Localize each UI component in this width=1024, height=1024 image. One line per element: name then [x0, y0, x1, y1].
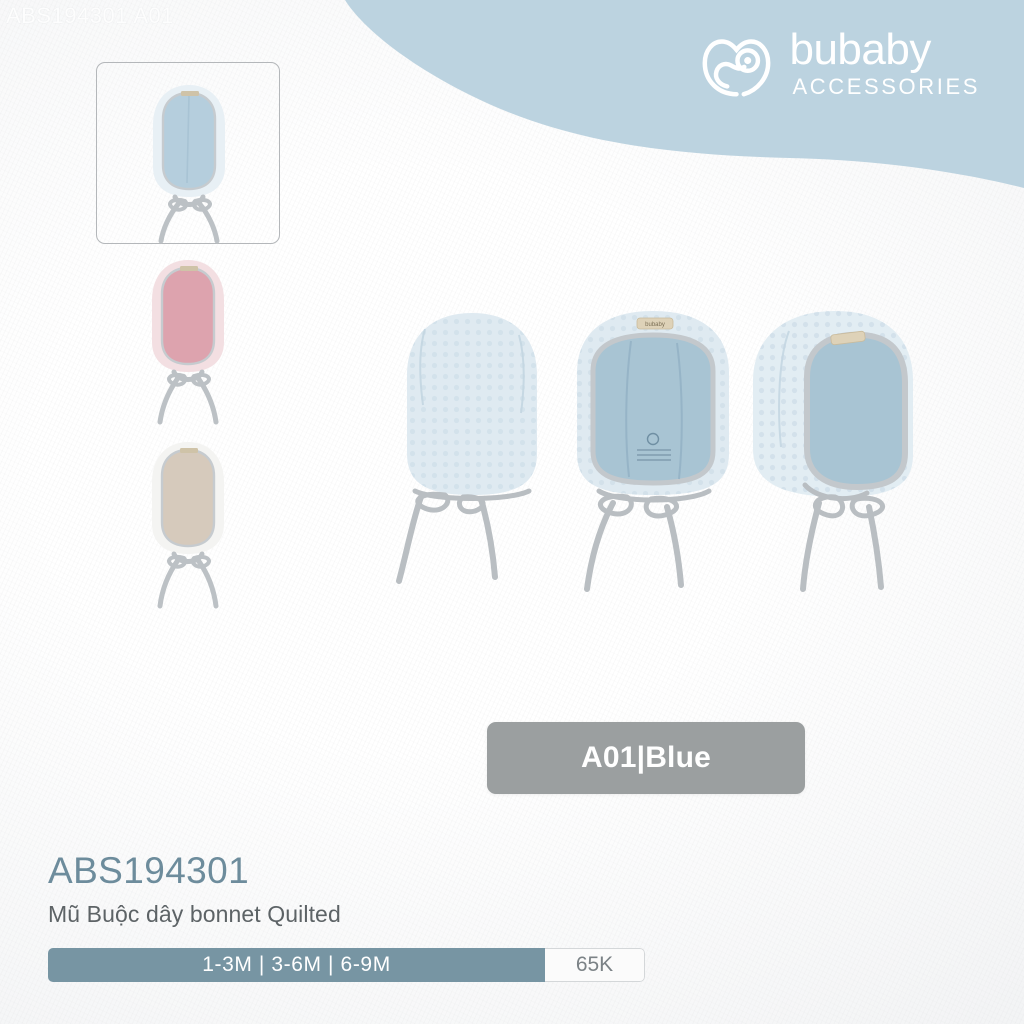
thumbnail-variant-pink[interactable] [96, 246, 280, 428]
size-price-bar: 1-3M | 3-6M | 6-9M 65K [48, 948, 645, 982]
thumbnail-variant-blue[interactable] [96, 62, 280, 244]
size-options: 1-3M | 3-6M | 6-9M [48, 948, 545, 982]
product-image-front: bubaby [563, 301, 745, 601]
product-image-back [385, 305, 560, 600]
color-variant-label: A01|Blue [581, 741, 711, 775]
thumbnail-variant-cream[interactable] [96, 430, 280, 612]
svg-text:bubaby: bubaby [645, 322, 665, 328]
product-description: Mũ Buộc dây bonnet Quilted [48, 901, 668, 927]
logo-wordmark: bubaby [789, 28, 980, 72]
bubaby-heart-logo-icon [697, 24, 775, 102]
price-value: 65K [545, 948, 645, 982]
color-variant-chip[interactable]: A01|Blue [487, 722, 805, 794]
product-image-three-quarter [745, 297, 935, 602]
product-sku: ABS194301 [48, 852, 668, 889]
logo-subtitle: ACCESSORIES [792, 76, 980, 98]
main-product-images: bubaby [385, 295, 945, 605]
brand-logo: bubaby ACCESSORIES [697, 24, 980, 102]
watermark-text: ABS194301 A01 [6, 3, 174, 29]
product-card-page: bubaby ACCESSORIES ABS194301 A01 [0, 0, 1024, 1024]
thumbnail-rail [96, 62, 280, 614]
product-info-footer: ABS194301 Mũ Buộc dây bonnet Quilted 1-3… [48, 852, 668, 982]
